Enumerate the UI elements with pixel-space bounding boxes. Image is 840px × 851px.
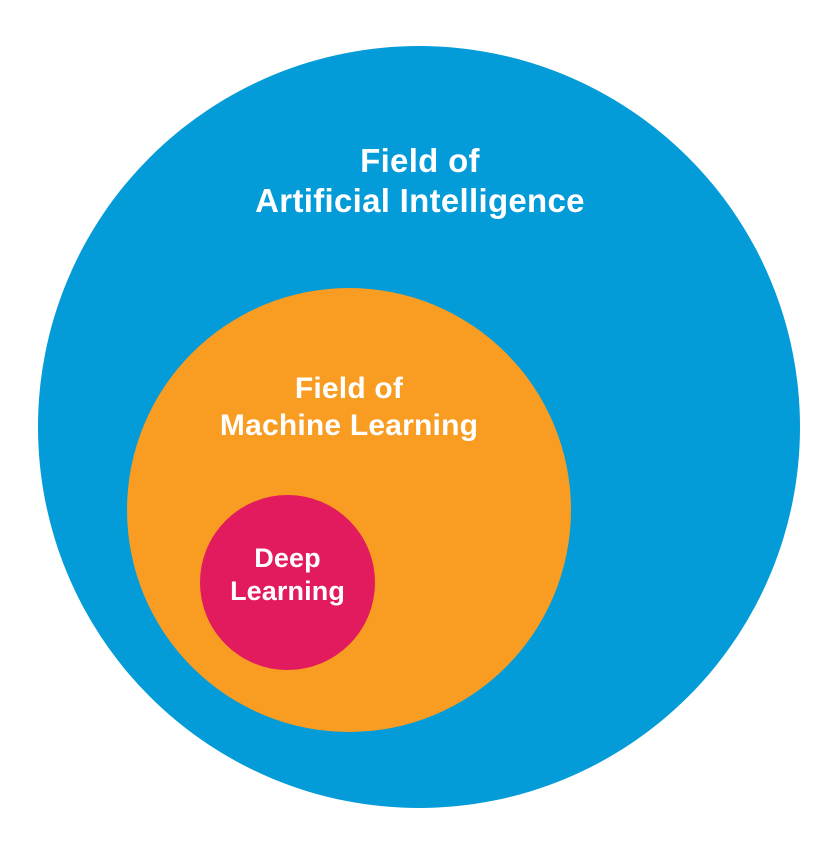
machine-learning-label-line2: Machine Learning xyxy=(129,408,569,445)
artificial-intelligence-label-line1: Field of xyxy=(0,141,840,181)
machine-learning-label-line1: Field of xyxy=(129,371,569,408)
nested-circles-diagram: Field of Artificial Intelligence Field o… xyxy=(0,0,840,851)
artificial-intelligence-label-line2: Artificial Intelligence xyxy=(0,181,840,221)
deep-learning-label-line1: Deep xyxy=(190,542,385,575)
artificial-intelligence-label: Field of Artificial Intelligence xyxy=(0,141,840,222)
machine-learning-circle xyxy=(127,288,571,732)
machine-learning-label: Field of Machine Learning xyxy=(129,371,569,444)
deep-learning-label-line2: Learning xyxy=(190,575,385,608)
deep-learning-label: Deep Learning xyxy=(190,542,385,608)
